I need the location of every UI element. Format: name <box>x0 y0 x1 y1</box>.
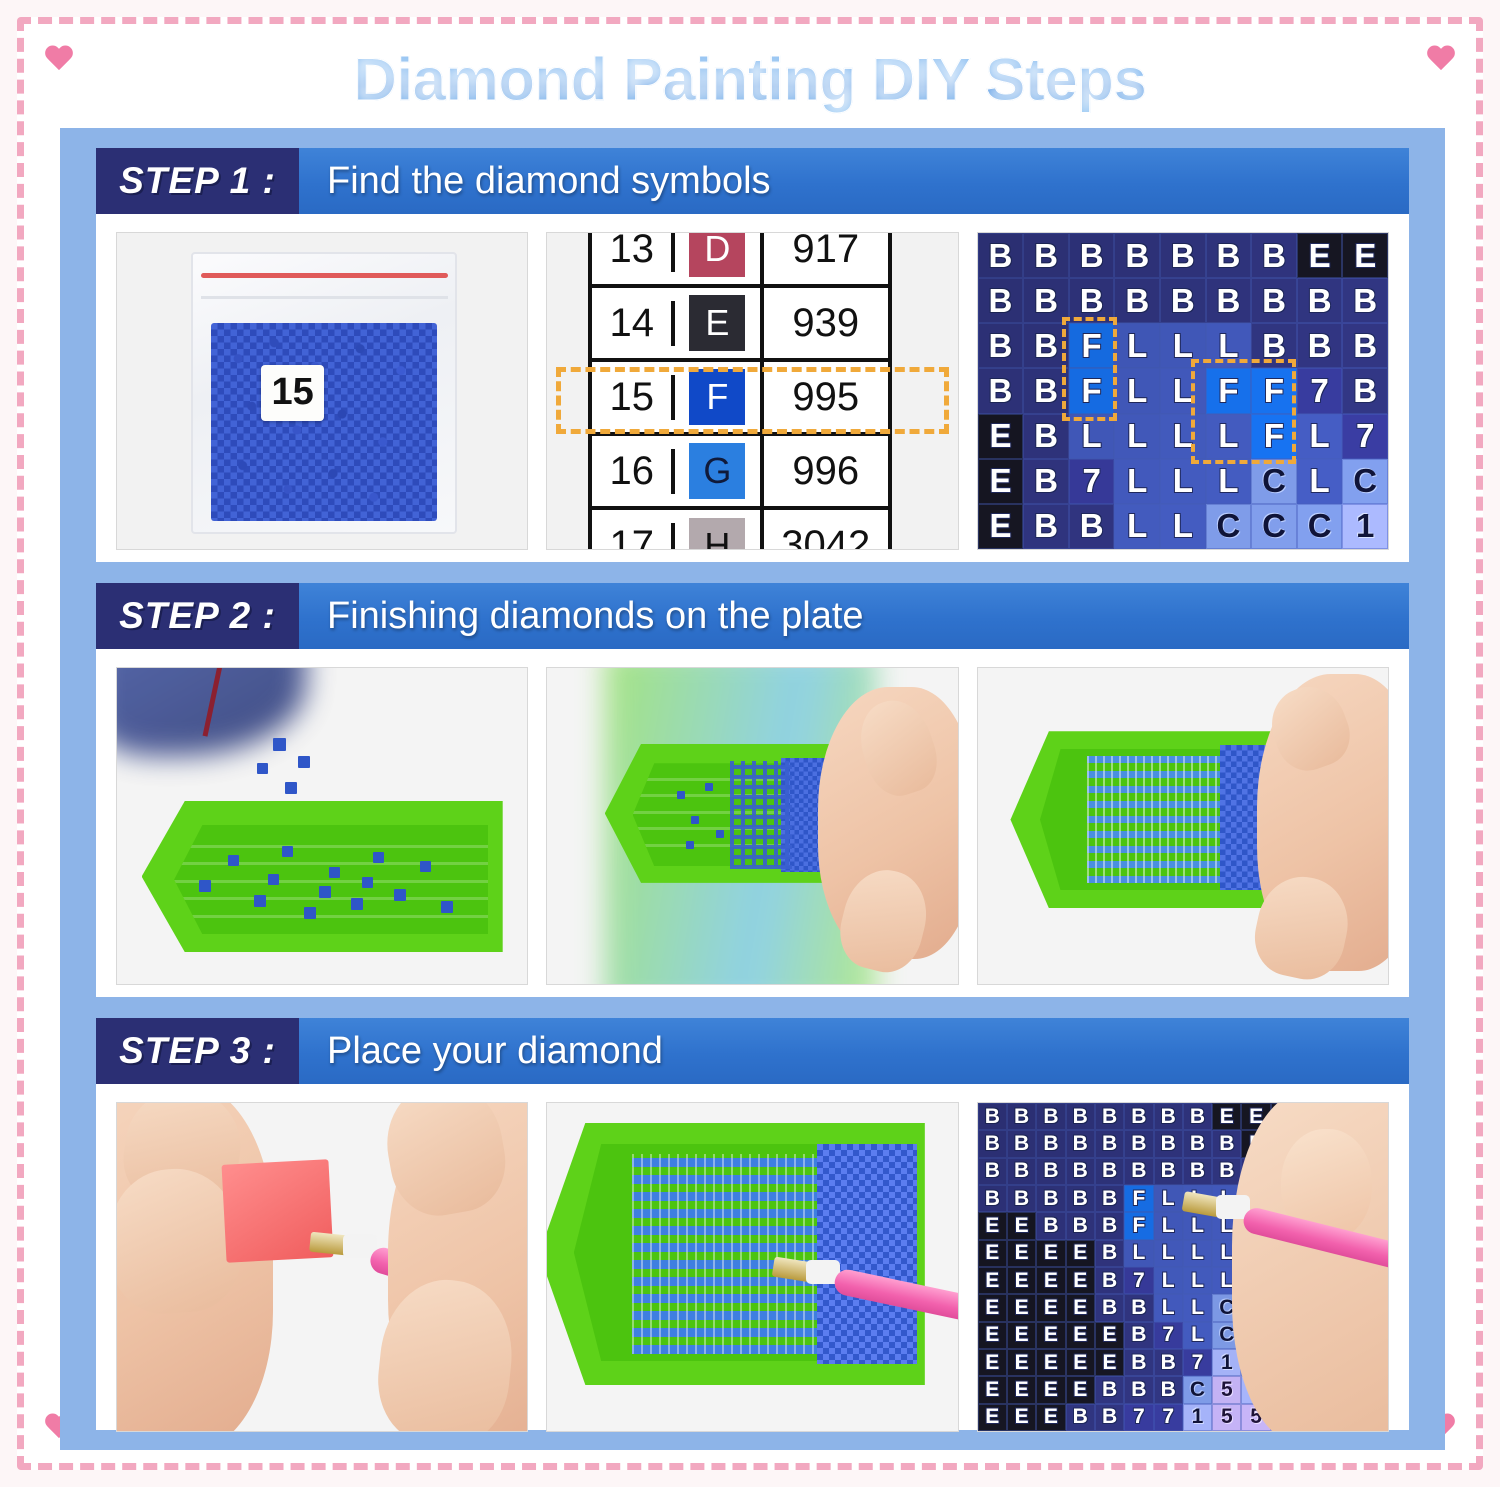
grid-cell: B <box>1114 233 1160 278</box>
grid-cell: L <box>1183 1240 1212 1267</box>
chart-symbol-cell: E <box>675 288 764 358</box>
grid-cell: B <box>978 1130 1007 1157</box>
grid-cell: B <box>1124 1130 1153 1157</box>
step-label-1: STEP 1 : <box>96 148 299 214</box>
diamond-pile <box>817 1144 917 1364</box>
grid-cell: B <box>1023 459 1069 504</box>
grid-cell: L <box>1297 459 1343 504</box>
grid-cell: E <box>1007 1212 1036 1239</box>
grid-cell: F <box>1124 1185 1153 1212</box>
step-block-3: STEP 3 : Place your diamond <box>96 1018 1409 1430</box>
scene <box>547 1103 957 1431</box>
chart-symbol-chip: G <box>689 443 745 499</box>
grid-cell: L <box>1154 1212 1183 1239</box>
grid-cell: E <box>1095 1322 1124 1349</box>
grid-cell: L <box>1183 1322 1212 1349</box>
grid-cell: E <box>978 504 1024 549</box>
wax-pen-photo <box>116 1102 528 1432</box>
shake-tray-photo <box>546 667 958 985</box>
grid-cell: B <box>1023 504 1069 549</box>
grid-cell: C <box>1183 1376 1212 1403</box>
grid-cell: B <box>1154 1158 1183 1185</box>
grid-cell: B <box>1066 1185 1095 1212</box>
grid-cell: B <box>1124 1294 1153 1321</box>
grid-cell: B <box>1183 1158 1212 1185</box>
page-title: Diamond Painting DIY Steps <box>60 34 1440 124</box>
step-3-photos: BBBBBBBBEEEEEEBBBBBBBBBEEBBEBBBBBBBBBBBB… <box>96 1084 1409 1452</box>
grid-cell: B <box>1066 1404 1095 1431</box>
grid-cell: B <box>1069 233 1115 278</box>
tray-inner <box>174 825 488 934</box>
grid-cell: B <box>1007 1103 1036 1130</box>
grid-cell: B <box>1206 278 1252 323</box>
grid-cell: L <box>1206 459 1252 504</box>
grid-cell: B <box>1297 323 1343 368</box>
grid-cell: B <box>1124 1103 1153 1130</box>
grid-cell: B <box>1154 1130 1183 1157</box>
grid-cell: 7 <box>1297 368 1343 413</box>
grid-cell: B <box>1183 1103 1212 1130</box>
grid-cell: B <box>1154 1349 1183 1376</box>
grid-cell: B <box>978 278 1024 323</box>
grid-cell: E <box>978 459 1024 504</box>
grid-cell: 1 <box>1183 1404 1212 1431</box>
grid-cell: C <box>1342 459 1388 504</box>
chart-symbol-cell: H <box>675 510 764 550</box>
step-header-3: STEP 3 : Place your diamond <box>96 1018 1409 1084</box>
grid-cell: B <box>1212 1158 1241 1185</box>
bag-number-label: 15 <box>261 365 324 421</box>
grid-cell: B <box>1212 1130 1241 1157</box>
grid-cell: B <box>1066 1212 1095 1239</box>
pour-diamonds-photo <box>116 667 528 985</box>
grid-cell: B <box>1095 1267 1124 1294</box>
grid-cell: L <box>1154 1185 1183 1212</box>
zip-seal <box>201 273 448 278</box>
grid-cell: B <box>1036 1158 1065 1185</box>
grid-cell: B <box>1160 233 1206 278</box>
grid-cell: B <box>1066 1103 1095 1130</box>
chart-row: 16G996 <box>592 436 887 510</box>
step-header-1: STEP 1 : Find the diamond symbols <box>96 148 1409 214</box>
grid-cell: E <box>1036 1404 1065 1431</box>
grid-highlight-left <box>1062 317 1117 421</box>
grid-cell: L <box>1154 1240 1183 1267</box>
grid-cell: B <box>1066 1130 1095 1157</box>
aligned-diamonds-photo <box>977 667 1389 985</box>
grid-cell: B <box>1251 278 1297 323</box>
grid-cell: E <box>1007 1349 1036 1376</box>
grid-cell: E <box>978 1322 1007 1349</box>
grid-cell: E <box>1036 1267 1065 1294</box>
step-1-photos: 15 13D91714E93915F99516G99617H3042 BBBBB… <box>96 214 1409 570</box>
grid-cell: B <box>1095 1103 1124 1130</box>
scene <box>117 668 527 984</box>
diamond-facets <box>632 1154 825 1353</box>
grid-cell: E <box>978 1376 1007 1403</box>
grid-cell: L <box>1183 1294 1212 1321</box>
grid-cell: B <box>1036 1130 1065 1157</box>
grid-cell: B <box>1095 1376 1124 1403</box>
grid-cell: E <box>1036 1240 1065 1267</box>
grid-cell: E <box>1007 1240 1036 1267</box>
poster-root: Diamond Painting DIY Steps STEP 1 : Find… <box>0 0 1500 1487</box>
grid-cell: E <box>1007 1376 1036 1403</box>
diamond-bag-photo: 15 <box>116 232 528 550</box>
grid-cell: B <box>1036 1103 1065 1130</box>
grid-cell: L <box>1114 414 1160 459</box>
grid-cell: E <box>978 1212 1007 1239</box>
grid-cell: E <box>1066 1240 1095 1267</box>
grid-cell: E <box>1007 1267 1036 1294</box>
grid-cell: L <box>1114 504 1160 549</box>
grid-cell: 7 <box>1342 414 1388 459</box>
grid-cell: B <box>978 323 1024 368</box>
grid-cell: B <box>1095 1130 1124 1157</box>
grid-cell: E <box>978 1349 1007 1376</box>
grid-cell: B <box>1342 278 1388 323</box>
chart-row: 17H3042 <box>592 510 887 550</box>
grid-cell: 7 <box>1124 1404 1153 1431</box>
grid-cell: E <box>1066 1267 1095 1294</box>
grid-row: BBFLLLBBB <box>978 323 1388 368</box>
blue-diamond-beads <box>211 323 437 520</box>
grid-cell: B <box>1007 1185 1036 1212</box>
pickup-diamond-photo <box>546 1102 958 1432</box>
chart-symbol-chip: D <box>689 232 745 277</box>
grid-cell: C <box>1206 504 1252 549</box>
grid-cell: B <box>978 1185 1007 1212</box>
grid-cell: C <box>1297 504 1343 549</box>
grid-cell: B <box>1154 1376 1183 1403</box>
grid-cell: E <box>978 1294 1007 1321</box>
grid-cell: 7 <box>1154 1322 1183 1349</box>
grid-cell: B <box>1069 504 1115 549</box>
chart-row-number: 16 <box>592 449 675 494</box>
grid-cell: B <box>1114 278 1160 323</box>
chart-row: 14E939 <box>592 288 887 362</box>
grid-cell: L <box>1160 459 1206 504</box>
green-tray <box>546 1123 925 1385</box>
grid-cell: B <box>1342 368 1388 413</box>
grid-cell: 7 <box>1069 459 1115 504</box>
grid-cell: B <box>1342 323 1388 368</box>
grid-cell: B <box>1160 278 1206 323</box>
grid-cell: L <box>1114 368 1160 413</box>
chart-symbol-cell: D <box>675 232 764 284</box>
grid-cell: L <box>1154 1267 1183 1294</box>
grid-cell: B <box>1023 233 1069 278</box>
grid-cell: E <box>1212 1103 1241 1130</box>
diamond-rows <box>730 761 791 869</box>
chart-row: 13D917 <box>592 232 887 288</box>
grid-cell: B <box>1297 278 1343 323</box>
grid-cell: L <box>1154 1294 1183 1321</box>
grid-cell: E <box>1066 1349 1095 1376</box>
grid-cell: C <box>1251 504 1297 549</box>
grid-row: BBBBBBBBB <box>978 278 1388 323</box>
grid-cell: 5 <box>1212 1404 1241 1431</box>
canvas-symbol-grid: BBBBBBBEEBBBBBBBBBBBFLLLBBBBBFLLFF7BEBLL… <box>978 233 1388 549</box>
grid-cell: B <box>1095 1404 1124 1431</box>
chart-color-code: 917 <box>764 232 888 272</box>
grid-cell: B <box>1124 1322 1153 1349</box>
grid-cell: E <box>978 1404 1007 1431</box>
grid-cell: E <box>1007 1322 1036 1349</box>
chart-row-number: 14 <box>592 301 675 346</box>
step-title-1: Find the diamond symbols <box>299 148 1409 214</box>
grid-cell: F <box>1124 1212 1153 1239</box>
grid-cell: B <box>978 1158 1007 1185</box>
grid-cell: E <box>1095 1349 1124 1376</box>
grid-cell: E <box>978 414 1024 459</box>
grid-cell: C <box>1251 459 1297 504</box>
grid-row: EBLLLLFL7 <box>978 414 1388 459</box>
chart-color-code: 3042 <box>764 523 888 550</box>
chart-row-number: 13 <box>592 232 675 272</box>
step-label-3: STEP 3 : <box>96 1018 299 1084</box>
grid-cell: B <box>1095 1185 1124 1212</box>
grid-cell: B <box>1095 1158 1124 1185</box>
grid-row: BBFLLFF7B <box>978 368 1388 413</box>
chart-symbol-chip: E <box>689 295 745 351</box>
symbol-chart-photo: 13D91714E93915F99516G99617H3042 <box>546 232 958 550</box>
grid-cell: B <box>1206 233 1252 278</box>
grid-cell: E <box>1007 1404 1036 1431</box>
grid-cell: E <box>1066 1322 1095 1349</box>
grid-cell: L <box>1114 459 1160 504</box>
grid-cell: B <box>978 1103 1007 1130</box>
grid-cell: E <box>1297 233 1343 278</box>
grid-cell: B <box>1124 1158 1153 1185</box>
grid-cell: B <box>1095 1212 1124 1239</box>
grid-cell: E <box>1066 1294 1095 1321</box>
grid-cell: E <box>1342 233 1388 278</box>
grid-cell: L <box>1114 323 1160 368</box>
zip-line <box>201 296 448 299</box>
zip-bag: 15 <box>191 252 458 534</box>
step-title-3: Place your diamond <box>299 1018 1409 1084</box>
symbol-canvas-photo: BBBBBBBEEBBBBBBBBBBBFLLLBBBBBFLLFF7BEBLL… <box>977 232 1389 550</box>
grid-highlight-right <box>1191 359 1296 463</box>
grid-cell: E <box>978 1240 1007 1267</box>
grid-row: EB7LLLCLC <box>978 459 1388 504</box>
grid-cell: B <box>1036 1185 1065 1212</box>
chart-symbol-cell: G <box>675 436 764 506</box>
chart-color-code: 996 <box>764 449 888 494</box>
chart-color-code: 939 <box>764 301 888 346</box>
scene <box>978 668 1388 984</box>
grid-cell: 7 <box>1154 1404 1183 1431</box>
chart-row-number: 17 <box>592 523 675 550</box>
place-on-canvas-photo: BBBBBBBBEEEEEEBBBBBBBBBEEBBEBBBBBBBBBBBB… <box>977 1102 1389 1432</box>
grid-cell: E <box>1036 1376 1065 1403</box>
step-block-2: STEP 2 : Finishing diamonds on the plate <box>96 583 1409 997</box>
grid-cell: B <box>1066 1158 1095 1185</box>
grid-cell: B <box>1251 233 1297 278</box>
grid-cell: E <box>1007 1294 1036 1321</box>
grid-cell: E <box>1036 1294 1065 1321</box>
page-title-text: Diamond Painting DIY Steps <box>354 45 1147 114</box>
green-tray <box>142 801 503 953</box>
step-header-2: STEP 2 : Finishing diamonds on the plate <box>96 583 1409 649</box>
grid-cell: 1 <box>1342 504 1388 549</box>
steps-panel: STEP 1 : Find the diamond symbols 15 13D… <box>60 128 1445 1450</box>
scene <box>117 1103 527 1431</box>
step-title-2: Finishing diamonds on the plate <box>299 583 1409 649</box>
step-label-2: STEP 2 : <box>96 583 299 649</box>
chart-symbol-chip: H <box>689 518 745 550</box>
grid-cell: B <box>1124 1376 1153 1403</box>
grid-cell: B <box>1007 1158 1036 1185</box>
grid-cell: B <box>1183 1130 1212 1157</box>
grid-cell: 5 <box>1212 1376 1241 1403</box>
grid-cell: L <box>1183 1267 1212 1294</box>
diamond-facets <box>1087 756 1235 883</box>
grid-row: EBBLLCCC1 <box>978 504 1388 549</box>
grid-cell: B <box>1095 1294 1124 1321</box>
grid-cell: B <box>1007 1130 1036 1157</box>
scene <box>547 668 957 984</box>
grid-cell: L <box>1160 504 1206 549</box>
grid-cell: B <box>1095 1240 1124 1267</box>
grid-cell: B <box>1124 1349 1153 1376</box>
step-block-1: STEP 1 : Find the diamond symbols 15 13D… <box>96 148 1409 562</box>
grid-cell: L <box>1297 414 1343 459</box>
grid-cell: B <box>978 233 1024 278</box>
grid-cell: 7 <box>1124 1267 1153 1294</box>
chart-row-highlight <box>556 367 950 433</box>
grid-cell: B <box>1036 1212 1065 1239</box>
step-2-photos <box>96 649 1409 1005</box>
grid-cell: E <box>1036 1349 1065 1376</box>
grid-cell: B <box>1154 1103 1183 1130</box>
grid-cell: L <box>1183 1212 1212 1239</box>
grid-cell: L <box>1124 1240 1153 1267</box>
grid-cell: E <box>978 1267 1007 1294</box>
grid-cell: E <box>1036 1322 1065 1349</box>
grid-cell: B <box>978 368 1024 413</box>
grid-row: BBBBBBBEE <box>978 233 1388 278</box>
grid-cell: 7 <box>1183 1349 1212 1376</box>
grid-cell: E <box>1066 1376 1095 1403</box>
